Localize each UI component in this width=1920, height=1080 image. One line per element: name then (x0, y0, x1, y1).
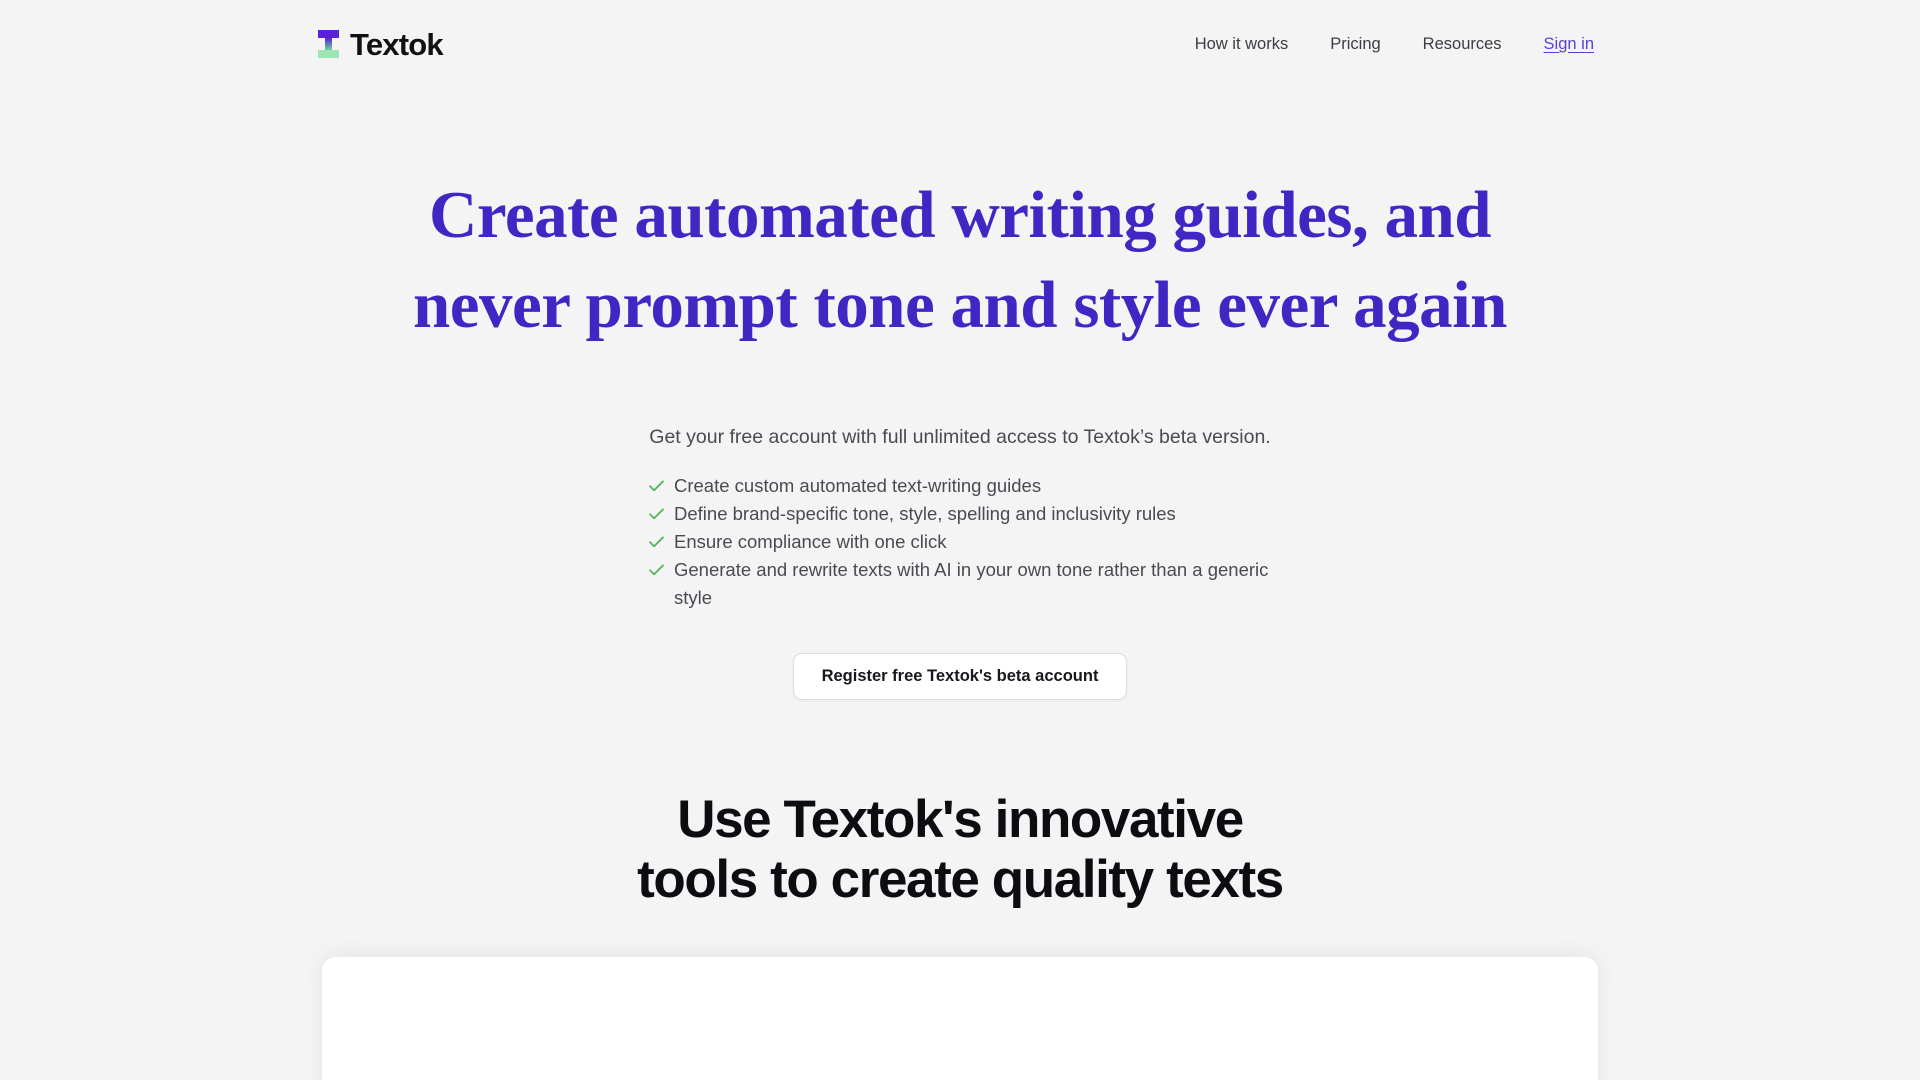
hero-section: Create automated writing guides, and nev… (0, 170, 1920, 700)
site-header: Textok How it works Pricing Resources Si… (0, 0, 1920, 88)
list-item-label: Define brand-specific tone, style, spell… (674, 500, 1176, 528)
brand-logo[interactable]: Textok (318, 29, 443, 60)
check-icon (648, 472, 665, 500)
list-item: Create custom automated text-writing gui… (648, 472, 1280, 500)
section-title: Use Textok's innovative tools to create … (0, 790, 1920, 910)
hero-cta-container: Register free Textok's beta account (0, 653, 1920, 700)
hero-title-line-1: Create automated writing guides, and (429, 178, 1491, 252)
section-title-line-1: Use Textok's innovative (677, 790, 1243, 849)
nav-link-pricing[interactable]: Pricing (1330, 36, 1380, 53)
tools-section: Use Textok's innovative tools to create … (0, 790, 1920, 910)
register-beta-account-button[interactable]: Register free Textok's beta account (793, 653, 1128, 700)
check-icon (648, 528, 665, 556)
nav-link-resources[interactable]: Resources (1423, 36, 1502, 53)
list-item: Define brand-specific tone, style, spell… (648, 500, 1280, 528)
product-showcase-card (322, 957, 1598, 1080)
list-item: Generate and rewrite texts with AI in yo… (648, 556, 1280, 612)
hero-subtitle: Get your free account with full unlimite… (0, 424, 1920, 451)
section-title-line-2: tools to create quality texts (637, 850, 1283, 909)
nav-link-how-it-works[interactable]: How it works (1195, 36, 1289, 53)
hero-feature-list: Create custom automated text-writing gui… (640, 472, 1280, 612)
brand-name: Textok (350, 29, 443, 60)
list-item-label: Create custom automated text-writing gui… (674, 472, 1041, 500)
landing-page: Textok How it works Pricing Resources Si… (0, 0, 1920, 1080)
textok-t-logo-icon (318, 30, 339, 58)
list-item-label: Generate and rewrite texts with AI in yo… (674, 556, 1280, 612)
list-item-label: Ensure compliance with one click (674, 528, 947, 556)
nav-link-sign-in[interactable]: Sign in (1544, 36, 1594, 53)
main-navigation: How it works Pricing Resources Sign in (1195, 36, 1594, 53)
check-icon (648, 556, 665, 584)
hero-title: Create automated writing guides, and nev… (335, 170, 1585, 350)
list-item: Ensure compliance with one click (648, 528, 1280, 556)
hero-title-line-2: never prompt tone and style ever again (413, 268, 1507, 342)
check-icon (648, 500, 665, 528)
